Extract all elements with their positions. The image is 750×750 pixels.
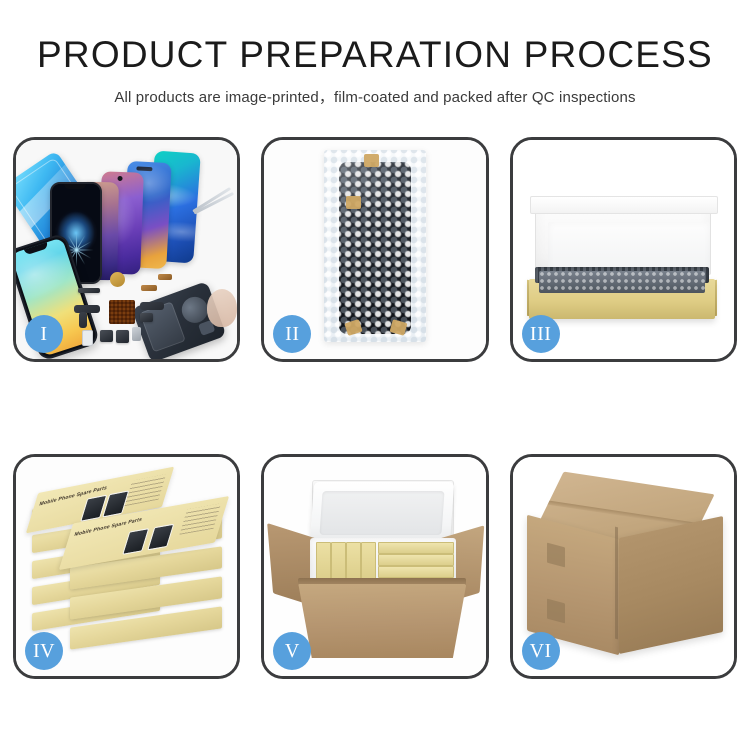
carton-right-face — [619, 516, 723, 654]
step-panel-4: Mobile Phone Spare Parts Mobile Phone Sp… — [13, 454, 240, 679]
carton-seam — [615, 527, 618, 640]
header: PRODUCT PREPARATION PROCESS All products… — [0, 32, 750, 109]
step-panel-5: V — [261, 454, 488, 679]
box-spec-lines — [179, 503, 221, 534]
spare-part-speaker — [110, 272, 125, 287]
box-lid — [535, 199, 711, 275]
tape-strip — [346, 196, 361, 209]
step-panel-1: I — [13, 137, 240, 362]
step-panel-2: II — [261, 137, 488, 362]
spare-part-bar — [78, 288, 100, 293]
step-panel-3: III — [510, 137, 737, 362]
spare-part-connector — [141, 285, 157, 291]
spare-part-battery-tab — [132, 327, 141, 341]
packed-box-item — [378, 566, 454, 578]
spare-part-flex-cable — [74, 305, 100, 313]
packed-box-item — [378, 542, 454, 554]
step-3-image: III — [513, 140, 734, 359]
step-5-image: V — [264, 457, 485, 676]
spare-part-module-1 — [140, 313, 153, 322]
styrofoam-lid — [310, 482, 454, 544]
process-steps-grid: I II — [13, 137, 737, 679]
step-2-image: II — [264, 140, 485, 359]
spare-part-flex-cable-3 — [140, 302, 164, 310]
step-1-image: I — [16, 140, 237, 359]
box-spec-lines — [124, 474, 166, 506]
spare-part-flex-cable-2 — [79, 312, 87, 328]
bubble-wrapped-contents — [539, 271, 705, 293]
open-kraft-box — [529, 199, 715, 319]
spare-part-sim-tray — [82, 330, 93, 346]
spare-part-chip-grid — [109, 300, 135, 324]
bubble-wrap-bag — [324, 150, 426, 342]
sealed-shipping-carton — [527, 483, 723, 651]
step-6-image: VI — [513, 457, 734, 676]
open-shipping-carton — [276, 480, 474, 658]
step-4-image: Mobile Phone Spare Parts Mobile Phone Sp… — [16, 457, 237, 676]
step-badge-6: VI — [522, 632, 560, 670]
step-badge-3: III — [522, 315, 560, 353]
spare-part-antenna — [158, 274, 172, 280]
tape-strip — [364, 154, 379, 167]
box-art-phone-2 — [148, 523, 175, 550]
carton-body — [298, 584, 466, 658]
step-panel-6: VI — [510, 454, 737, 679]
step-badge-4: IV — [25, 632, 63, 670]
page-title: PRODUCT PREPARATION PROCESS — [0, 32, 750, 78]
foam-sheet — [548, 222, 710, 272]
stacked-boxes: Mobile Phone Spare Parts Mobile Phone Sp… — [26, 475, 236, 665]
packed-box-item — [378, 554, 454, 566]
spare-part-camera — [116, 330, 129, 343]
product-preparation-infographic: PRODUCT PREPARATION PROCESS All products… — [0, 0, 750, 750]
bubble-texture-shadow — [324, 150, 426, 342]
page-subtitle: All products are image-printed，film-coat… — [0, 87, 750, 109]
hand-icon — [207, 289, 237, 327]
spare-part-vibrator — [100, 330, 113, 342]
step-badge-1: I — [25, 315, 63, 353]
box-art-phone-1 — [123, 528, 150, 555]
